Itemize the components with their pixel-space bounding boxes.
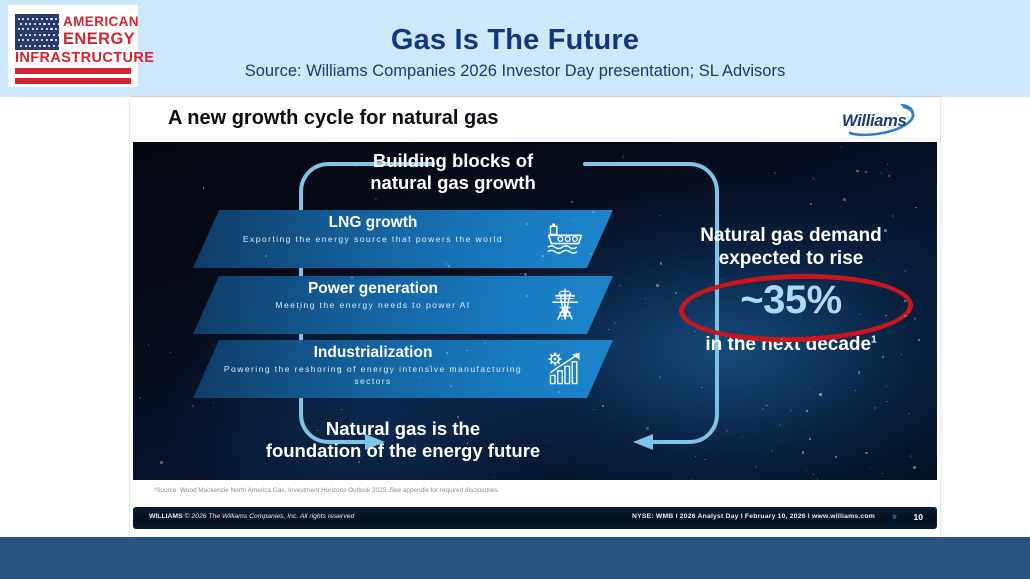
slide-footnote: ¹Source: Wood Mackenzie North America Ga… [154, 487, 499, 494]
williams-wordmark: Williams [842, 112, 906, 131]
page-subtitle-source: Source: Williams Companies 2026 Investor… [0, 62, 1030, 81]
demand-stat-panel: Natural gas demand expected to rise ~35%… [653, 224, 929, 356]
footer-brand: WILLIAMS [149, 513, 183, 520]
footer-copyright-text: © 2026 The Williams Companies, Inc. All … [185, 513, 355, 520]
gear-growth-chart-icon [545, 350, 585, 388]
footer-meta: NYSE: WMB I 2026 Analyst Day I February … [632, 513, 875, 520]
pillar-description: Powering the reshoring of energy intensi… [213, 364, 533, 387]
stat-headline-line-1: Natural gas demand [700, 225, 882, 246]
stat-value: ~35% [653, 278, 929, 323]
page-header-band: AMERICAN ENERGY INFRASTRUCTURE Gas Is Th… [0, 0, 1030, 97]
slide-canvas: Building blocks of natural gas growth LN… [133, 142, 937, 480]
lng-tanker-ship-icon [545, 220, 585, 258]
pillar-label: Industrialization [213, 344, 533, 362]
building-blocks-heading: Building blocks of natural gas growth [323, 150, 583, 194]
cycle-conclusion-text: Natural gas is the foundation of the ene… [228, 418, 578, 462]
pillar-label: LNG growth [213, 214, 533, 232]
stat-headline-line-2: expected to rise [719, 248, 864, 269]
slide-header: A new growth cycle for natural gas Willi… [130, 97, 940, 142]
pillar-lng-growth[interactable]: LNG growth Exporting the energy source t… [193, 210, 613, 268]
slide-page-number: 10 [914, 512, 923, 522]
conclusion-line-1: Natural gas is the [326, 418, 480, 439]
heading-line-2: natural gas growth [370, 172, 536, 193]
pillar-description: Meeting the energy needs to power AI [213, 300, 533, 312]
conclusion-line-2: foundation of the energy future [266, 440, 540, 461]
pillar-description: Exporting the energy source that powers … [213, 234, 533, 246]
stat-headline: Natural gas demand expected to rise [653, 224, 929, 270]
stat-value-wrap: ~35% [653, 276, 929, 332]
page-bottom-band [0, 537, 1030, 579]
footer-copyright: WILLIAMS © 2026 The Williams Companies, … [149, 513, 354, 520]
pillar-power-generation[interactable]: Power generation Meeting the energy need… [193, 276, 613, 334]
chevron-right-icon: ›› [892, 511, 895, 523]
heading-line-1: Building blocks of [373, 150, 533, 171]
williams-logo: Williams [842, 103, 922, 137]
page-title: Gas Is The Future [0, 24, 1030, 57]
slide-container: A new growth cycle for natural gas Willi… [130, 97, 940, 537]
transmission-tower-icon [545, 286, 585, 324]
pillar-industrialization[interactable]: Industrialization Powering the reshoring… [193, 340, 613, 398]
stat-footnote-marker: 1 [871, 335, 877, 346]
pillar-label: Power generation [213, 280, 533, 298]
slide-title: A new growth cycle for natural gas [168, 107, 498, 130]
slide-footer-bar: WILLIAMS © 2026 The Williams Companies, … [133, 507, 937, 529]
